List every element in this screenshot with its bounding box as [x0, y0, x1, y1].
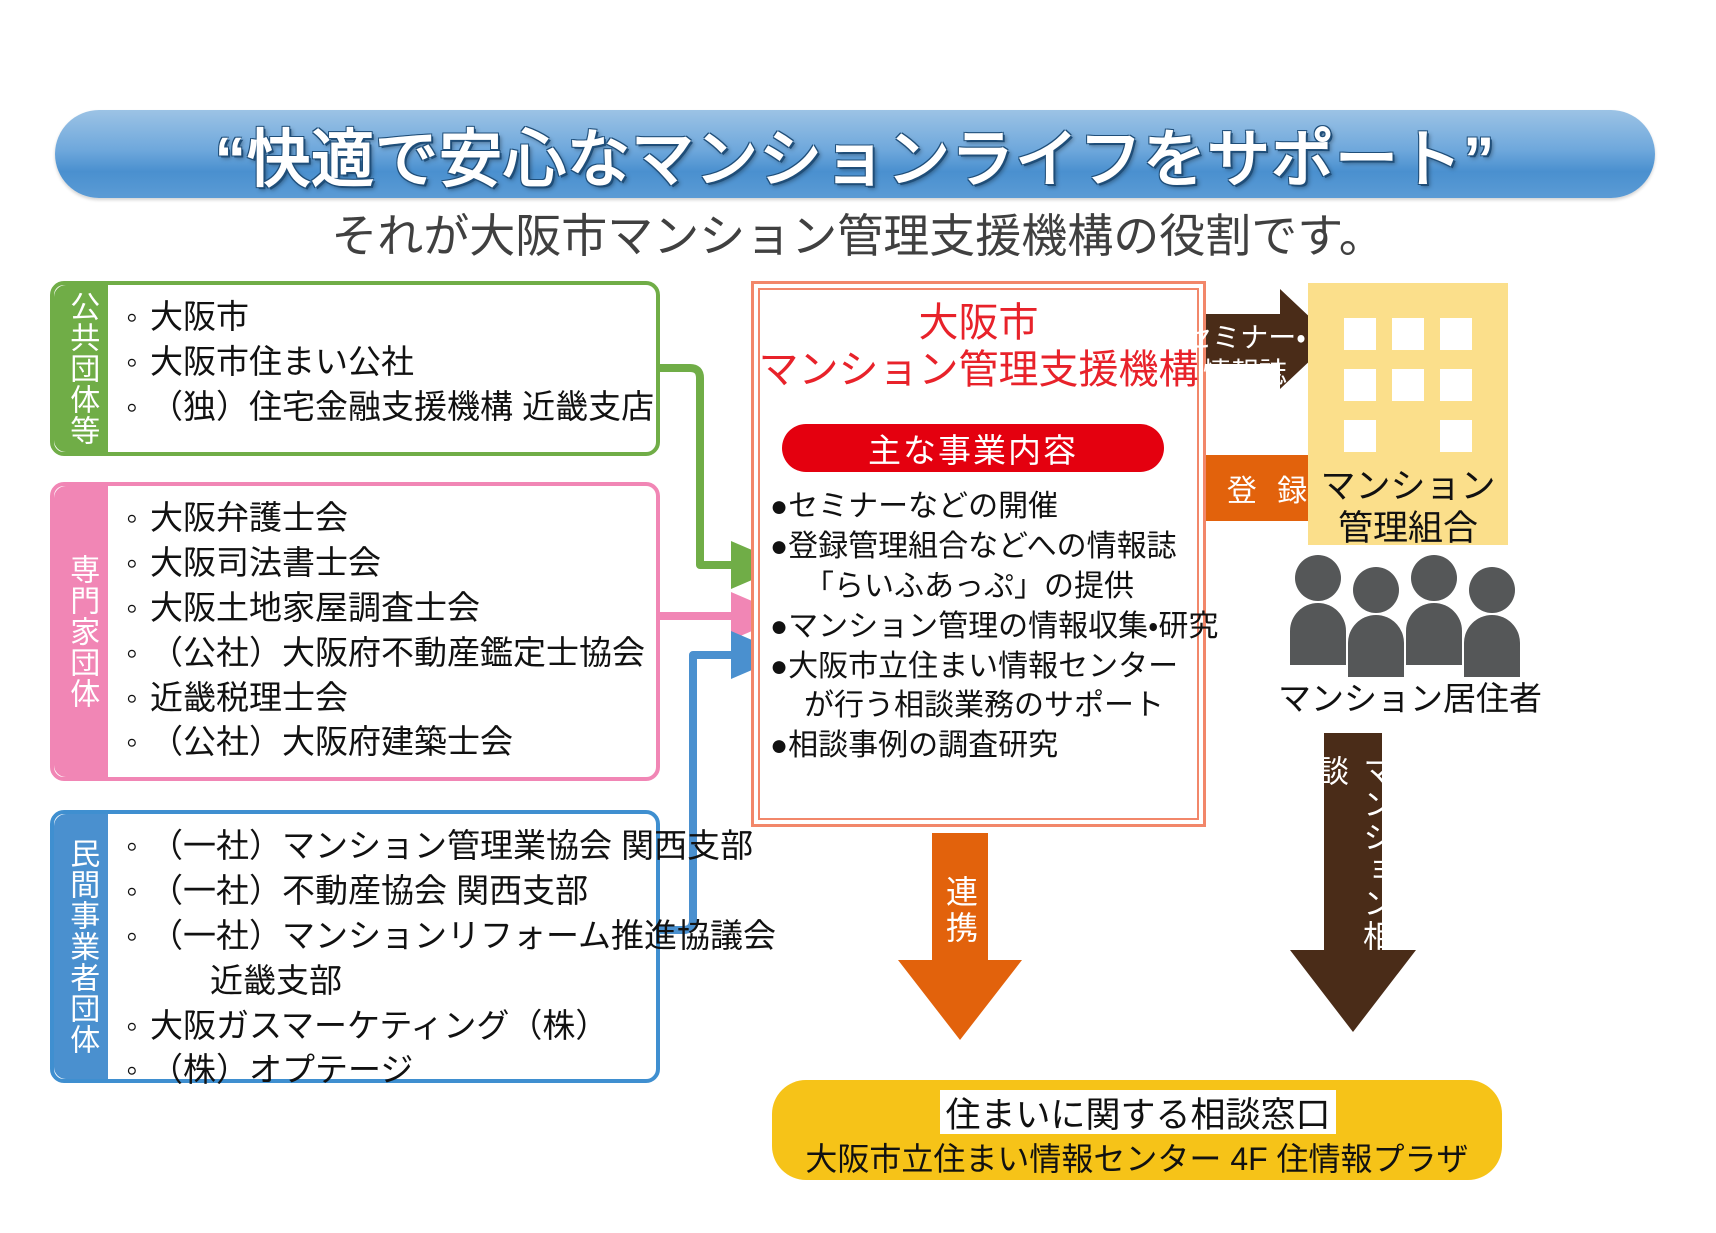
- list-item-label: （一社）マンションリフォーム推進協議会: [150, 917, 776, 954]
- page-title: “快適で安心なマンションライフをサポート”: [55, 110, 1655, 198]
- service-item-continuation: 「らいふあっぷ」の提供: [770, 567, 1195, 607]
- group-tab-label-private: 民間事業者団体: [66, 838, 97, 1055]
- list-item: ◦大阪司法書士会: [126, 541, 648, 586]
- building-window: [1344, 369, 1376, 401]
- group-tab-private: 民間事業者団体: [54, 814, 108, 1079]
- group-box-expert: 専門家団体 ◦大阪弁護士会 ◦大阪司法書士会 ◦大阪土地家屋調査士会 ◦（公社）…: [50, 482, 660, 781]
- building-window: [1392, 369, 1424, 401]
- list-item: ◦（一社）不動産協会 関西支部: [126, 869, 648, 914]
- group-list-public: ◦大阪市 ◦大阪市住まい公社 ◦（独）住宅金融支援機構 近畿支店: [126, 295, 648, 430]
- list-item-label: 大阪ガスマーケティング（株）: [150, 1007, 608, 1044]
- list-item: ◦大阪土地家屋調査士会: [126, 586, 648, 631]
- service-item: ●相談事例の調査研究: [770, 726, 1195, 766]
- consultation-subtitle: 大阪市立住まい情報センター 4F 住情報プラザ: [772, 1134, 1502, 1180]
- residents-icon-group: [1293, 545, 1523, 665]
- list-item-label: （一社）不動産協会 関西支部: [150, 872, 588, 909]
- list-item: ◦（独）住宅金融支援機構 近畿支店: [126, 385, 648, 430]
- consultation-title: 住まいに関する相談窓口: [940, 1090, 1336, 1134]
- list-item: ◦（公社）大阪府不動産鑑定士協会: [126, 631, 648, 676]
- organization-name: 大阪市 マンション管理支援機構: [758, 300, 1199, 394]
- person-icon: [1469, 567, 1520, 677]
- arrow-seminar-label-line1: セミナー・: [1184, 320, 1306, 355]
- list-item-label: 大阪土地家屋調査士会: [150, 589, 480, 626]
- group-box-private: 民間事業者団体 ◦（一社）マンション管理業協会 関西支部 ◦（一社）不動産協会 …: [50, 810, 660, 1083]
- group-body-public: ◦大阪市 ◦大阪市住まい公社 ◦（独）住宅金融支援機構 近畿支店: [108, 285, 656, 452]
- list-item: ◦（公社）大阪府建築士会: [126, 720, 648, 765]
- arrow-register-label: 登 録: [1215, 466, 1325, 510]
- group-tab-label-public: 公共団体等: [66, 291, 97, 446]
- list-item-label: （株）オプテージ: [150, 1051, 413, 1088]
- service-item: ●登録管理組合などへの情報誌: [770, 527, 1195, 567]
- arrow-seminar-label: セミナー・ 情報誌: [1185, 315, 1305, 395]
- main-business-pill: 主な事業内容: [782, 424, 1164, 472]
- diagram-canvas: “快適で安心なマンションライフをサポート” それが大阪市マンション管理支援機構の…: [0, 0, 1716, 1233]
- list-item-label: （公社）大阪府不動産鑑定士協会: [150, 634, 645, 671]
- service-item: ●セミナーなどの開催: [770, 487, 1195, 527]
- page-subtitle: それが大阪市マンション管理支援機構の役割です。: [0, 200, 1716, 266]
- group-tab-expert: 専門家団体: [54, 486, 108, 777]
- list-item-label: 大阪弁護士会: [150, 499, 348, 536]
- list-item: ◦（株）オプテージ: [126, 1048, 648, 1093]
- arrow-renkei-label: 連携: [930, 856, 990, 966]
- list-item: ◦（一社）マンション管理業協会 関西支部: [126, 824, 648, 869]
- building-window: [1440, 369, 1472, 401]
- group-tab-public: 公共団体等: [54, 285, 108, 452]
- main-business-pill-label: 主な事業内容: [868, 424, 1078, 472]
- building-window: [1440, 318, 1472, 350]
- arrow-seminar-label-line2: 情報誌: [1203, 355, 1287, 390]
- residents-label: マンション居住者: [1270, 672, 1550, 720]
- list-item-label: （公社）大阪府建築士会: [150, 723, 513, 760]
- list-item: ◦大阪ガスマーケティング（株）: [126, 1004, 648, 1049]
- person-icon: [1353, 567, 1404, 677]
- list-item: ◦大阪市: [126, 295, 648, 340]
- building-window: [1344, 420, 1376, 452]
- list-item: ◦近畿税理士会: [126, 676, 648, 721]
- group-box-public: 公共団体等 ◦大阪市 ◦大阪市住まい公社 ◦（独）住宅金融支援機構 近畿支店: [50, 281, 660, 456]
- services-list: ●セミナーなどの開催 ●登録管理組合などへの情報誌 「らいふあっぷ」の提供 ●マ…: [770, 487, 1195, 766]
- service-item: ●マンション管理の情報収集・研究: [770, 607, 1195, 647]
- organization-name-line2: マンション管理支援機構: [758, 347, 1199, 394]
- building-window: [1392, 318, 1424, 350]
- list-item: ◦大阪弁護士会: [126, 496, 648, 541]
- building-window: [1440, 420, 1472, 452]
- organization-name-line1: 大阪市: [758, 300, 1199, 347]
- group-body-private: ◦（一社）マンション管理業協会 関西支部 ◦（一社）不動産協会 関西支部 ◦（一…: [108, 814, 656, 1079]
- list-item-label: 大阪市住まい公社: [150, 343, 414, 380]
- list-item: ◦（一社）マンションリフォーム推進協議会: [126, 914, 648, 959]
- person-icon: [1411, 555, 1462, 665]
- service-item: ●大阪市立住まい情報センター: [770, 647, 1195, 687]
- list-item-label: 近畿支部: [210, 962, 342, 999]
- group-list-private: ◦（一社）マンション管理業協会 関西支部 ◦（一社）不動産協会 関西支部 ◦（一…: [126, 824, 648, 1093]
- building-window: [1344, 318, 1376, 350]
- list-item-label: （一社）マンション管理業協会 関西支部: [150, 827, 753, 864]
- group-tab-label-expert: 専門家団体: [66, 554, 97, 709]
- list-item: ◦大阪市住まい公社: [126, 340, 648, 385]
- group-list-expert: ◦大阪弁護士会 ◦大阪司法書士会 ◦大阪土地家屋調査士会 ◦（公社）大阪府不動産…: [126, 496, 648, 765]
- list-item-label: 大阪司法書士会: [150, 544, 381, 581]
- arrow-soudan-label: マンション相談: [1326, 755, 1380, 965]
- list-item-label: 近畿税理士会: [150, 679, 348, 716]
- list-item-label: （独）住宅金融支援機構 近畿支店: [150, 388, 654, 425]
- list-item-continuation: 近畿支部: [126, 959, 648, 1004]
- service-item-continuation: が行う相談業務のサポート: [770, 686, 1195, 726]
- group-body-expert: ◦大阪弁護士会 ◦大阪司法書士会 ◦大阪土地家屋調査士会 ◦（公社）大阪府不動産…: [108, 486, 656, 777]
- building-label-line2: 管理組合: [1288, 508, 1528, 550]
- list-item-label: 大阪市: [150, 298, 249, 335]
- person-icon: [1295, 555, 1346, 665]
